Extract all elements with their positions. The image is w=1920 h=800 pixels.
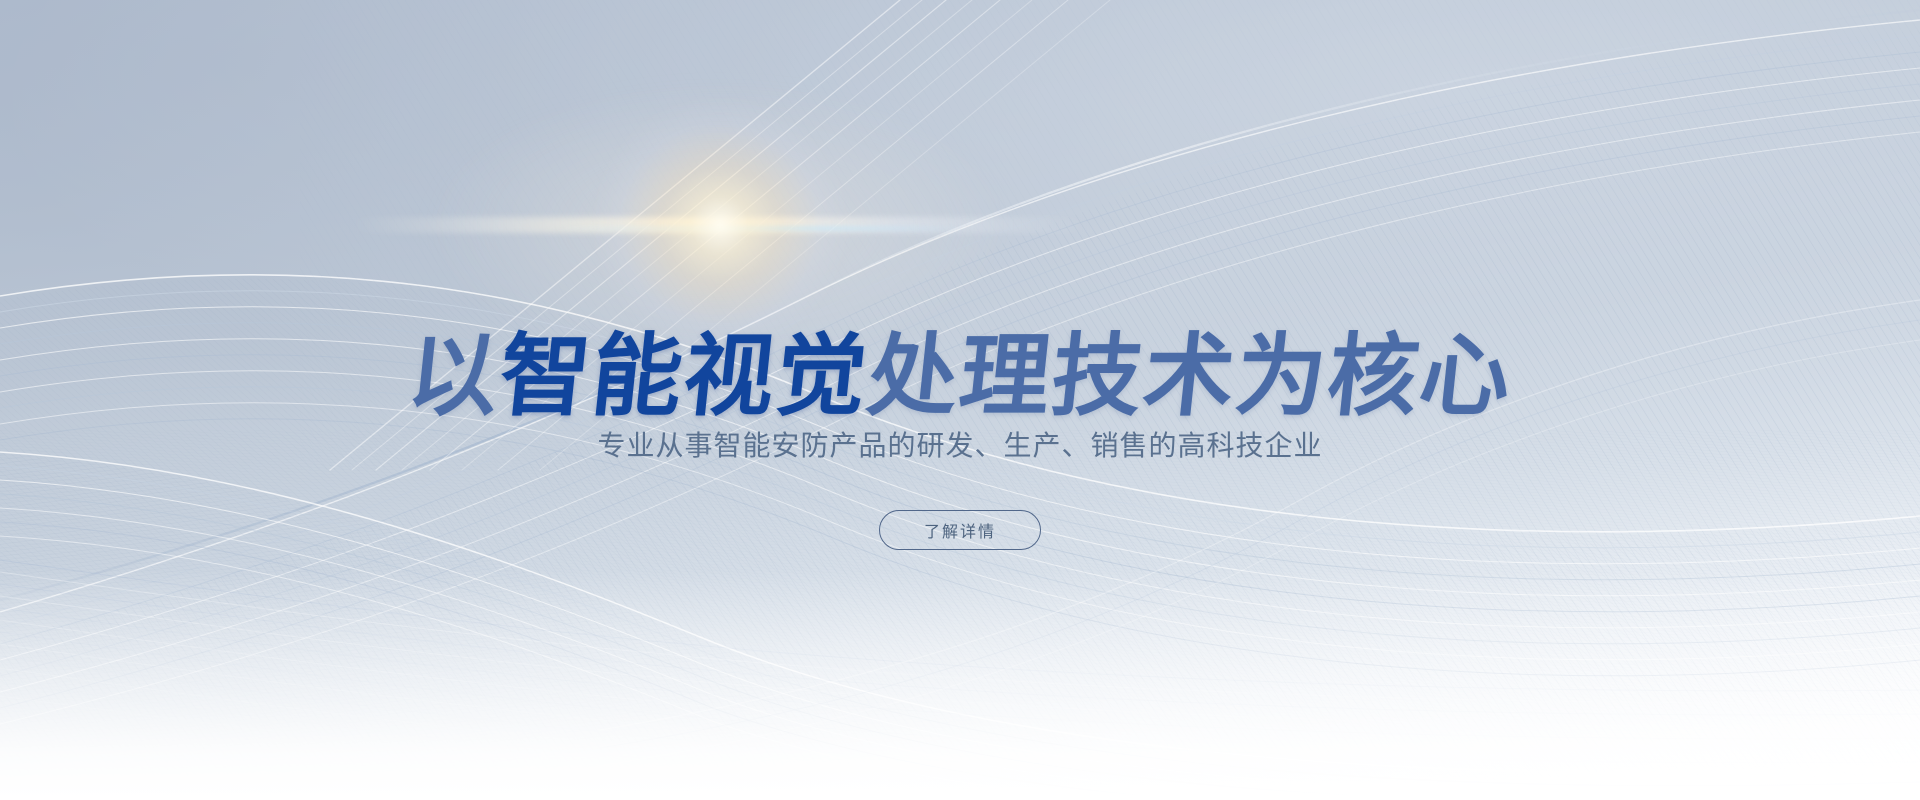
- headline-segment-3: 处理技术为核心: [863, 324, 1518, 429]
- learn-more-button[interactable]: 了解详情: [879, 510, 1041, 550]
- hero-banner: 以智能视觉处理技术为核心 专业从事智能安防产品的研发、生产、销售的高科技企业 了…: [0, 0, 1920, 800]
- page-title: 以智能视觉处理技术为核心: [0, 325, 1920, 429]
- headline-segment-2-emphasis: 智能视觉: [495, 324, 874, 429]
- hero-content: 以智能视觉处理技术为核心 专业从事智能安防产品的研发、生产、销售的高科技企业 了…: [0, 0, 1920, 800]
- headline-segment-1: 以: [403, 324, 506, 429]
- page-subtitle: 专业从事智能安防产品的研发、生产、销售的高科技企业: [0, 426, 1920, 466]
- cta-container: 了解详情: [0, 510, 1920, 550]
